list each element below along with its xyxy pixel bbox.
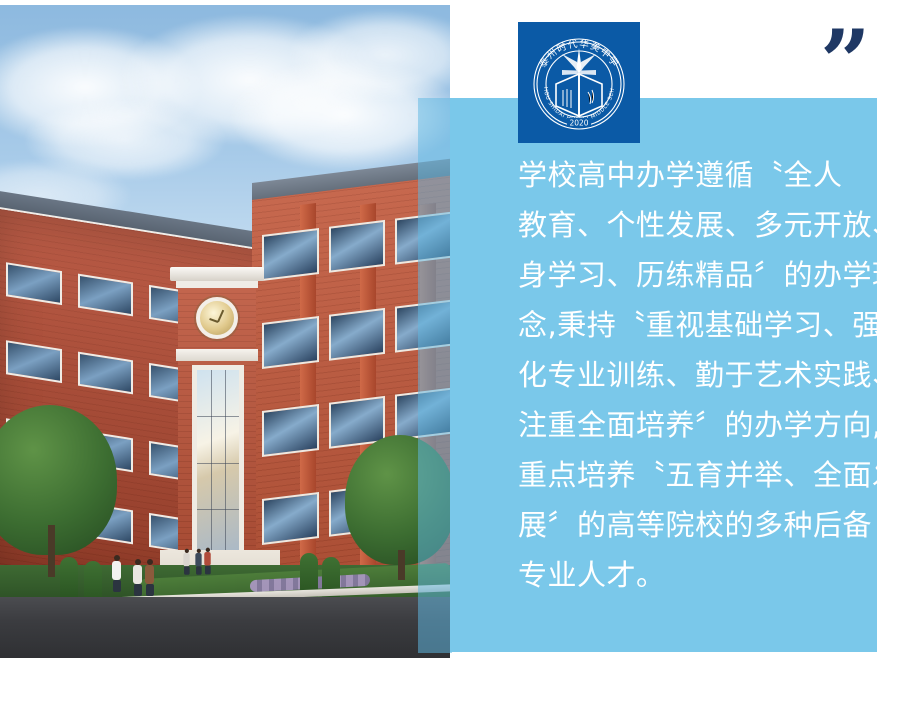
open-book-shape (556, 74, 602, 116)
poster-card: 学校高中办学遵循〝全人 教育、个性发展、多元开放、终 身学习、历练精品〞的办学理… (0, 0, 900, 709)
clock-face-icon (196, 297, 238, 339)
tree (345, 435, 450, 565)
text-line: 学校高中办学遵循〝全人 (460, 150, 861, 200)
text-line: 专业人才。 (460, 550, 861, 600)
window (329, 220, 386, 273)
school-philosophy-text: 学校高中办学遵循〝全人 教育、个性发展、多元开放、终 身学习、历练精品〞的办学理… (460, 150, 861, 600)
logo-year: 2020 (569, 119, 588, 128)
tower-glass-curtain (192, 365, 244, 560)
plaza-pavement (0, 597, 450, 658)
school-emblem-icon: 泰州时代华美中学 FUZHOU SHIDAI HUIWEI MIDDLE SCH… (518, 22, 640, 143)
campus-building-photo (0, 5, 450, 658)
window (395, 300, 450, 353)
tower-band (176, 349, 258, 361)
window (262, 228, 319, 281)
closing-quote-icon: ” (820, 18, 871, 106)
star-burst-icon (562, 48, 596, 75)
tower-cap (170, 267, 264, 281)
quote-panel: 学校高中办学遵循〝全人 教育、个性发展、多元开放、终 身学习、历练精品〞的办学理… (450, 98, 877, 652)
text-line: 注重全面培养〞的办学方向, (460, 400, 861, 450)
window (395, 212, 450, 265)
text-line: 身学习、历练精品〞的办学理 (460, 250, 861, 300)
text-line: 重点培养〝五育并举、全面发 (460, 450, 861, 500)
school-logo: 泰州时代华美中学 FUZHOU SHIDAI HUIWEI MIDDLE SCH… (518, 22, 640, 143)
text-line: 化专业训练、勤于艺术实践、 (460, 350, 861, 400)
text-line: 教育、个性发展、多元开放、终 (460, 200, 861, 250)
text-line: 展〞的高等院校的多种后备 (460, 500, 861, 550)
window (262, 492, 319, 545)
window (262, 316, 319, 369)
window (262, 404, 319, 457)
window (329, 308, 386, 361)
tree-trunk (48, 525, 55, 577)
window (395, 388, 450, 441)
text-line: 念,秉持〝重视基础学习、强 (460, 300, 861, 350)
tree-trunk (398, 550, 405, 580)
tower-cap (176, 281, 258, 288)
